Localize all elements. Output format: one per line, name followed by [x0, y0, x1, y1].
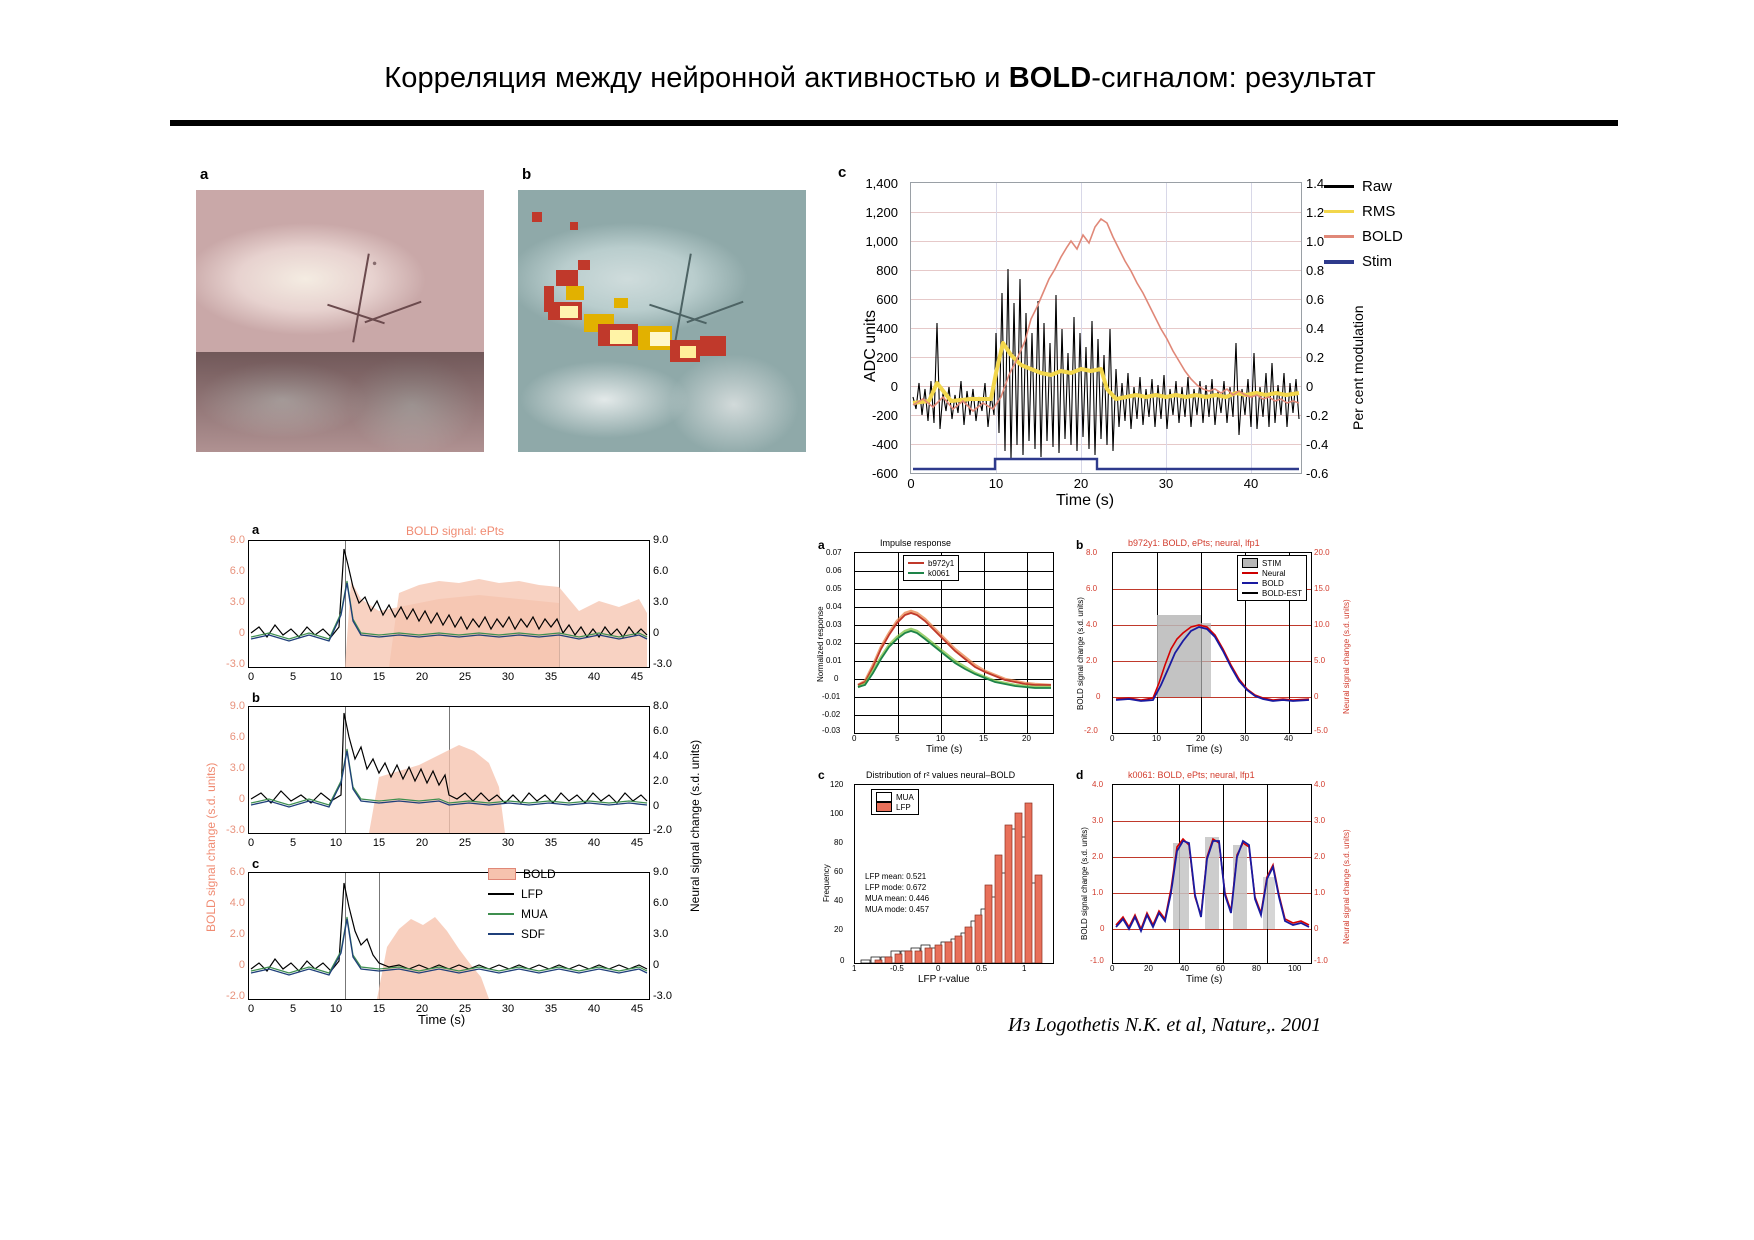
br-d-xtick-4: 80 [1252, 964, 1261, 973]
br-d-rtick-3: 1.0 [1314, 888, 1325, 897]
br-a-legend: b972y1 k0061 [903, 555, 959, 581]
panel-c-plot-area [910, 182, 1302, 474]
bl-panel-c: 6.0 4.0 2.0 0 -2.0 9.0 6.0 3.0 0 -3.0 0 … [248, 872, 650, 1000]
br-b-legend-item-2[interactable]: BOLD [1242, 578, 1302, 588]
histology-photo [196, 190, 484, 452]
panel-c-xaxis-title: Time (s) [1056, 492, 1114, 510]
bl-c-xtick-9: 45 [625, 1003, 649, 1015]
bl-b-xtick-9: 45 [625, 837, 649, 849]
title-suffix: -сигналом: результат [1091, 62, 1375, 94]
bl-legend-label-bold: BOLD [523, 867, 556, 881]
title-divider [170, 120, 1618, 126]
br-d-letter: d [1076, 768, 1083, 782]
bl-a-xtick-9: 45 [625, 671, 649, 683]
figure-bottom-right: a Impulse response b972y1 [808, 532, 1368, 1012]
bl-b-ytick-1: 6.0 [205, 731, 245, 743]
br-d-yaxis-title: BOLD signal change (s.d. units) [1080, 827, 1089, 940]
br-b-rtick-5: -5.0 [1314, 726, 1328, 735]
bl-b-rtick-1: 6.0 [653, 725, 687, 737]
bl-a-ytick-1: 6.0 [205, 565, 245, 577]
panel-c-rtick-6: 0.2 [1306, 350, 1346, 365]
br-b-rtick-2: 10.0 [1314, 620, 1330, 629]
br-b-yaxis-title: BOLD signal change (s.d. units) [1076, 597, 1085, 710]
br-d-rtick-1: 3.0 [1314, 816, 1325, 825]
bl-c-rtick-2: 3.0 [653, 928, 687, 940]
br-a-letter: a [818, 538, 825, 552]
bl-b-xtick-4: 20 [410, 837, 434, 849]
bl-a-ytick-4: -3.0 [205, 658, 245, 670]
bl-c-ytick-3: 0 [205, 959, 245, 971]
figure-bottom-left: a BOLD signal: ePts 9.0 6.0 3.0 0 -3.0 9… [196, 512, 716, 1032]
chart-panel-c: c 1,400 1,200 1,000 800 600 400 200 0 -2… [838, 162, 1378, 502]
bl-a-xtick-2: 10 [324, 671, 348, 683]
bl-b-xtick-1: 5 [281, 837, 305, 849]
bl-b-ytick-0: 9.0 [205, 700, 245, 712]
br-panel-c: MUA LFP LFP mean: 0.521 LFP mode: 0.672 … [854, 784, 1054, 964]
bl-a-xtick-1: 5 [281, 671, 305, 683]
bl-legend-item-bold[interactable]: BOLD [488, 864, 556, 884]
br-d-ytick-5: -1.0 [1090, 956, 1104, 965]
bl-a-title: BOLD signal: ePts [406, 524, 504, 538]
panel-c-ytick-10: -600 [840, 466, 898, 481]
bl-b-rtick-4: 0 [653, 800, 687, 812]
bl-c-rtick-4: -3.0 [653, 990, 687, 1002]
panel-c-rtick-9: -0.4 [1306, 437, 1346, 452]
bl-c-rtick-3: 0 [653, 959, 687, 971]
panel-c-ytick-9: -400 [840, 437, 898, 452]
br-d-rtick-5: -1.0 [1314, 956, 1328, 965]
br-d-yaxis-right-title: Neural signal change (s.d. units) [1342, 829, 1351, 944]
bl-a-rtick-3: 0 [653, 627, 687, 639]
bl-xaxis-title: Time (s) [418, 1012, 465, 1027]
legend-label-stim: Stim [1362, 253, 1392, 270]
br-a-ytick-3: 0.04 [826, 602, 842, 611]
br-c-xtick-1: -0.5 [890, 964, 904, 973]
br-c-legend-item-lfp[interactable]: LFP [876, 802, 914, 812]
bl-c-legend: BOLD LFP MUA SDF [488, 864, 556, 944]
br-c-ytick-4: 40 [834, 896, 843, 905]
bl-b-rtick-3: 2.0 [653, 775, 687, 787]
br-a-ytick-0: 0.07 [826, 548, 842, 557]
br-a-xtick-3: 15 [979, 734, 988, 743]
legend-swatch-bold [1324, 235, 1354, 238]
br-b-xaxis-title: Time (s) [1186, 744, 1222, 755]
br-a-ytick-9: -0.02 [822, 710, 840, 719]
bl-c-rtick-1: 6.0 [653, 897, 687, 909]
bl-a-ytick-0: 9.0 [205, 534, 245, 546]
br-d-ytick-2: 2.0 [1092, 852, 1103, 861]
bl-yaxis-title: BOLD signal change (s.d. units) [204, 763, 218, 932]
panel-c-xtick-3: 30 [1151, 476, 1181, 491]
bl-a-xtick-8: 40 [582, 671, 606, 683]
br-c-legend: MUA LFP [871, 789, 919, 815]
br-c-annotation-2: MUA mean: 0.446 [865, 893, 929, 904]
bl-a-xtick-0: 0 [239, 671, 263, 683]
panel-c-traces [911, 183, 1301, 473]
bl-legend-item-sdf[interactable]: SDF [488, 924, 556, 944]
br-d-xtick-3: 60 [1216, 964, 1225, 973]
bl-c-rtick-0: 9.0 [653, 866, 687, 878]
br-a-xtick-4: 20 [1022, 734, 1031, 743]
bl-b-xtick-7: 35 [539, 837, 563, 849]
br-b-legend-item-1[interactable]: Neural [1242, 568, 1302, 578]
br-d-xaxis-title: Time (s) [1186, 974, 1222, 985]
br-panel-b: STIM Neural BOLD BOLD-EST [1112, 552, 1312, 734]
source-citation: Из Logothetis N.K. et al, Nature,. 2001 [1008, 1014, 1321, 1037]
br-a-ytick-10: -0.03 [822, 726, 840, 735]
bl-c-xtick-8: 40 [582, 1003, 606, 1015]
br-c-ytick-1: 100 [830, 809, 843, 818]
legend-label-rms: RMS [1362, 203, 1395, 220]
bl-panel-a: 9.0 6.0 3.0 0 -3.0 9.0 6.0 3.0 0 -3.0 0 … [248, 540, 650, 668]
bl-c-ytick-4: -2.0 [205, 990, 245, 1002]
bl-b-rtick-5: -2.0 [653, 824, 687, 836]
bl-a-xtick-7: 35 [539, 671, 563, 683]
br-b-rtick-1: 15.0 [1314, 584, 1330, 593]
bl-a-ytick-2: 3.0 [205, 596, 245, 608]
bl-legend-swatch-sdf [488, 933, 514, 935]
br-a-ytick-2: 0.05 [826, 584, 842, 593]
br-a-ytick-1: 0.06 [826, 566, 842, 575]
panel-c-ytick-0: 1,400 [840, 176, 898, 191]
legend-swatch-stim [1324, 260, 1354, 264]
bl-c-xtick-3: 15 [367, 1003, 391, 1015]
panel-c-rtick-5: 0.4 [1306, 321, 1346, 336]
br-a-xaxis-title: Time (s) [926, 744, 962, 755]
bl-b-xtick-3: 15 [367, 837, 391, 849]
bl-a-xtick-5: 25 [453, 671, 477, 683]
panel-c-ytick-1: 1,200 [840, 205, 898, 220]
title-prefix: Корреляция между нейронной активностью и [384, 62, 1009, 94]
br-c-legend-label-mua: MUA [896, 793, 914, 802]
br-b-title: b972y1: BOLD, ePts; neural, lfp1 [1128, 538, 1260, 548]
br-a-yaxis-title: Normalized response [816, 606, 825, 682]
bl-b-xtick-5: 25 [453, 837, 477, 849]
br-b-legend-item-3[interactable]: BOLD-EST [1242, 588, 1302, 598]
br-b-xtick-1: 10 [1152, 734, 1161, 743]
br-b-legend-swatch-2 [1242, 582, 1258, 584]
br-b-legend-swatch-1 [1242, 572, 1258, 574]
br-a-legend-swatch-0 [908, 562, 924, 564]
br-c-xtick-3: 0.5 [976, 964, 987, 973]
br-d-rtick-2: 2.0 [1314, 852, 1325, 861]
bl-c-letter: c [252, 856, 259, 871]
br-c-xtick-0: 1 [852, 964, 856, 973]
bl-legend-item-lfp[interactable]: LFP [488, 884, 556, 904]
bl-legend-swatch-bold [488, 868, 516, 880]
br-b-legend-label-3: BOLD-EST [1262, 589, 1302, 598]
bl-panel-b: 9.0 6.0 3.0 0 -3.0 8.0 6.0 4.0 2.0 0 -2.… [248, 706, 650, 834]
br-c-ytick-6: 0 [840, 956, 844, 965]
br-d-ytick-1: 3.0 [1092, 816, 1103, 825]
legend-item-raw[interactable]: Raw [1324, 174, 1403, 199]
panel-c-xtick-2: 20 [1066, 476, 1096, 491]
br-c-legend-swatch-lfp [876, 802, 892, 812]
br-c-annotation-0: LFP mean: 0.521 [865, 871, 926, 882]
br-b-rtick-0: 20.0 [1314, 548, 1330, 557]
bl-b-rtick-0: 8.0 [653, 700, 687, 712]
br-c-annotation-1: LFP mode: 0.672 [865, 882, 926, 893]
br-a-legend-item-0[interactable]: b972y1 [908, 558, 954, 568]
br-c-legend-swatch-mua [876, 792, 892, 802]
bl-b-xtick-8: 40 [582, 837, 606, 849]
legend-swatch-raw [1324, 185, 1354, 188]
bl-c-xtick-2: 10 [324, 1003, 348, 1015]
br-b-letter: b [1076, 538, 1083, 552]
bl-legend-label-mua: MUA [521, 907, 548, 921]
br-b-xtick-2: 20 [1196, 734, 1205, 743]
br-c-ytick-2: 80 [834, 838, 843, 847]
panel-c-yaxis-title: ADC units [862, 310, 880, 382]
bl-a-rtick-1: 6.0 [653, 565, 687, 577]
br-b-legend-item-0[interactable]: STIM [1242, 558, 1302, 568]
br-b-legend-label-0: STIM [1262, 559, 1281, 568]
br-a-ytick-8: -0.01 [822, 692, 840, 701]
br-d-rtick-4: 0 [1314, 924, 1318, 933]
panel-c-ytick-4: 600 [840, 292, 898, 307]
bl-legend-swatch-lfp [488, 893, 514, 895]
br-d-rtick-0: 4.0 [1314, 780, 1325, 789]
bl-b-letter: b [252, 690, 260, 705]
panel-c-rtick-4: 0.6 [1306, 292, 1346, 307]
br-c-ytick-0: 120 [830, 780, 843, 789]
br-a-ytick-7: 0 [834, 674, 838, 683]
br-b-xtick-4: 40 [1284, 734, 1293, 743]
br-panel-a: b972y1 k0061 [854, 552, 1054, 734]
br-d-xtick-0: 0 [1110, 964, 1114, 973]
panel-c-ytick-2: 1,000 [840, 234, 898, 249]
br-a-legend-label-0: b972y1 [928, 559, 954, 568]
legend-swatch-rms [1324, 210, 1354, 213]
br-c-title: Distribution of r² values neural–BOLD [866, 770, 1015, 780]
br-c-xtick-2: 0 [936, 964, 940, 973]
br-d-ytick-3: 1.0 [1092, 888, 1103, 897]
panel-c-rtick-8: -0.2 [1306, 408, 1346, 423]
br-b-ytick-2: 4.0 [1086, 620, 1097, 629]
br-b-legend-label-2: BOLD [1262, 579, 1284, 588]
bl-legend-label-sdf: SDF [521, 927, 545, 941]
photo-b-letter: b [522, 166, 531, 183]
br-b-xtick-0: 0 [1110, 734, 1114, 743]
legend-item-rms[interactable]: RMS [1324, 199, 1403, 224]
bl-a-rtick-4: -3.0 [653, 658, 687, 670]
legend-label-raw: Raw [1362, 178, 1392, 195]
br-a-title: Impulse response [880, 538, 951, 548]
bl-a-rtick-0: 9.0 [653, 534, 687, 546]
panel-c-rtick-10: -0.6 [1306, 466, 1346, 481]
br-a-legend-item-1[interactable]: k0061 [908, 568, 954, 578]
page-title: Корреляция между нейронной активностью и… [170, 62, 1590, 95]
bl-legend-label-lfp: LFP [521, 887, 543, 901]
br-c-legend-label-lfp: LFP [896, 803, 911, 812]
legend-item-bold[interactable]: BOLD [1324, 224, 1403, 249]
bl-legend-swatch-mua [488, 913, 514, 915]
br-c-legend-item-mua[interactable]: MUA [876, 792, 914, 802]
br-a-ytick-5: 0.02 [826, 638, 842, 647]
br-b-rtick-4: 0 [1314, 692, 1318, 701]
br-d-title: k0061: BOLD, ePts; neural, lfp1 [1128, 770, 1255, 780]
br-d-ytick-0: 4.0 [1092, 780, 1103, 789]
br-a-legend-swatch-1 [908, 572, 924, 574]
bl-a-xtick-6: 30 [496, 671, 520, 683]
slide-root: Корреляция между нейронной активностью и… [0, 0, 1754, 1240]
br-d-xtick-1: 20 [1144, 964, 1153, 973]
br-c-yaxis-title: Frequency [822, 864, 831, 902]
panel-c-ytick-8: -200 [840, 408, 898, 423]
br-b-legend-swatch-0 [1242, 558, 1258, 568]
bl-a-letter: a [252, 522, 259, 537]
panel-c-legend: Raw RMS BOLD Stim [1324, 174, 1403, 274]
br-a-legend-label-1: k0061 [928, 569, 950, 578]
br-b-ytick-0: 8.0 [1086, 548, 1097, 557]
bl-b-xtick-0: 0 [239, 837, 263, 849]
br-c-annotation-3: MUA mode: 0.457 [865, 904, 929, 915]
br-b-ytick-5: -2.0 [1084, 726, 1098, 735]
bl-a-xtick-3: 15 [367, 671, 391, 683]
bl-b-xtick-2: 10 [324, 837, 348, 849]
br-b-legend: STIM Neural BOLD BOLD-EST [1237, 555, 1307, 601]
bl-c-xtick-1: 5 [281, 1003, 305, 1015]
br-d-xtick-5: 100 [1288, 964, 1301, 973]
br-a-xtick-2: 10 [936, 734, 945, 743]
br-panel-d [1112, 784, 1312, 964]
br-b-ytick-4: 0 [1096, 692, 1100, 701]
panel-c-ytick-3: 800 [840, 263, 898, 278]
br-c-letter: c [818, 768, 825, 782]
bl-a-ytick-3: 0 [205, 627, 245, 639]
br-a-ytick-4: 0.03 [826, 620, 842, 629]
br-d-xtick-2: 40 [1180, 964, 1189, 973]
br-b-legend-swatch-3 [1242, 592, 1258, 594]
br-b-xtick-3: 30 [1240, 734, 1249, 743]
bl-c-xtick-7: 35 [539, 1003, 563, 1015]
br-a-xtick-0: 0 [852, 734, 856, 743]
title-bold-token: BOLD [1009, 62, 1092, 94]
panel-c-xtick-1: 10 [981, 476, 1011, 491]
bl-c-xtick-6: 30 [496, 1003, 520, 1015]
legend-label-bold: BOLD [1362, 228, 1403, 245]
br-d-ytick-4: 0 [1100, 924, 1104, 933]
bl-b-xtick-6: 30 [496, 837, 520, 849]
br-b-legend-label-1: Neural [1262, 569, 1286, 578]
br-c-xtick-4: 1 [1022, 964, 1026, 973]
bl-yaxis-right-title: Neural signal change (s.d. units) [688, 740, 702, 912]
bl-a-xtick-4: 20 [410, 671, 434, 683]
br-a-ytick-6: 0.01 [826, 656, 842, 665]
panel-c-xtick-4: 40 [1236, 476, 1266, 491]
br-b-rtick-3: 5.0 [1314, 656, 1325, 665]
br-c-xaxis-title: LFP r-value [918, 974, 970, 985]
bl-a-rtick-2: 3.0 [653, 596, 687, 608]
bl-c-xtick-0: 0 [239, 1003, 263, 1015]
bl-b-rtick-2: 4.0 [653, 750, 687, 762]
br-b-ytick-1: 6.0 [1086, 584, 1097, 593]
br-c-ytick-3: 60 [834, 867, 843, 876]
br-b-ytick-3: 2.0 [1086, 656, 1097, 665]
panel-c-yaxis-right-title: Per cent modulation [1350, 305, 1366, 430]
br-a-xtick-1: 5 [895, 734, 899, 743]
br-b-yaxis-right-title: Neural signal change (s.d. units) [1342, 599, 1351, 714]
br-c-ytick-5: 20 [834, 925, 843, 934]
legend-item-stim[interactable]: Stim [1324, 249, 1403, 274]
panel-c-rtick-7: 0 [1306, 379, 1346, 394]
fmri-overlay-photo [518, 190, 806, 452]
bl-legend-item-mua[interactable]: MUA [488, 904, 556, 924]
photo-a-letter: a [200, 166, 208, 183]
panel-c-xtick-0: 0 [896, 476, 926, 491]
